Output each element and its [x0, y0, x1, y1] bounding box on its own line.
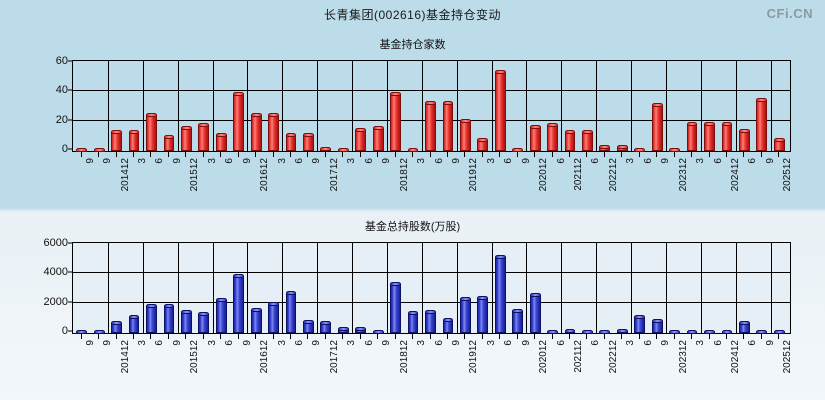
bar-body [233, 94, 244, 151]
bar-cap [338, 327, 349, 331]
x-axis-tick [447, 334, 448, 339]
bar-cap [477, 138, 488, 142]
bar-cap [286, 291, 297, 295]
x-axis-tick [621, 334, 622, 339]
x-axis-tick [150, 152, 151, 157]
bar [774, 138, 785, 151]
x-axis-label: 6 [503, 158, 514, 164]
bar [669, 148, 680, 151]
bar [599, 145, 610, 151]
x-axis-tick [569, 334, 570, 339]
x-axis-label: 202312 [678, 340, 689, 373]
bar-cap [443, 101, 454, 105]
x-axis-label: 9 [172, 340, 183, 346]
bar [687, 330, 698, 333]
bar-body [530, 295, 541, 333]
x-axis-tick [185, 334, 186, 339]
x-axis-label: 9 [660, 158, 671, 164]
x-axis-label: 201812 [399, 340, 410, 373]
x-axis-label: 3 [625, 340, 636, 346]
x-axis-label: 6 [503, 340, 514, 346]
x-axis-label: 202412 [730, 340, 741, 373]
x-axis-tick [709, 152, 710, 157]
bar-cap [268, 113, 279, 117]
bar [739, 321, 750, 333]
x-axis-tick [482, 152, 483, 157]
bar-body [425, 103, 436, 151]
x-axis-tick [98, 334, 99, 339]
bar [565, 130, 576, 151]
x-axis-tick [81, 334, 82, 339]
bar-body [303, 135, 314, 151]
x-axis-label: 3 [416, 340, 427, 346]
y-axis-label: 4000 [44, 266, 68, 278]
bar [634, 315, 645, 333]
bar-body [198, 314, 209, 333]
bar-cap [233, 92, 244, 96]
x-axis-tick [168, 152, 169, 157]
x-axis-tick [98, 152, 99, 157]
bar [547, 123, 558, 151]
site-watermark: CFi.CN [767, 6, 813, 21]
x-axis-tick [517, 152, 518, 157]
bar-cap [373, 126, 384, 130]
bar [390, 92, 401, 151]
x-axis-tick [604, 334, 605, 339]
x-axis-label: 6 [556, 340, 567, 346]
x-axis-label: 9 [765, 158, 776, 164]
bar-cap [582, 130, 593, 134]
bar-cap [181, 126, 192, 130]
bar-cap [425, 101, 436, 105]
x-axis-label: 3 [207, 340, 218, 346]
x-axis-label: 3 [137, 340, 148, 346]
bar [599, 330, 610, 333]
x-axis-label: 201412 [120, 340, 131, 373]
bar [739, 129, 750, 151]
x-axis-label: 202212 [608, 340, 619, 373]
bar-cap [739, 321, 750, 325]
x-axis-label: 9 [102, 340, 113, 346]
bar [251, 113, 262, 151]
bar-body [425, 312, 436, 333]
x-axis-label: 6 [154, 158, 165, 164]
bar-body [251, 115, 262, 151]
x-axis-label: 3 [137, 158, 148, 164]
bar [565, 329, 576, 333]
x-axis-tick [499, 334, 500, 339]
bar [373, 330, 384, 333]
x-axis-label: 6 [364, 340, 375, 346]
bar-cap [251, 308, 262, 312]
bar [704, 122, 715, 151]
bar [286, 133, 297, 151]
y-axis-label: 40 [56, 84, 68, 96]
bar-cap [617, 145, 628, 149]
bar-body [129, 317, 140, 333]
bar-cap [634, 315, 645, 319]
x-axis-label: 6 [713, 158, 724, 164]
y-axis-label: 2000 [44, 296, 68, 308]
x-axis-tick [430, 334, 431, 339]
bar [669, 330, 680, 333]
x-axis-label: 6 [434, 340, 445, 346]
bar [111, 321, 122, 333]
x-axis-tick [273, 334, 274, 339]
y-axis-tick [68, 243, 73, 244]
x-axis-label: 6 [154, 340, 165, 346]
bar-cap [425, 310, 436, 314]
x-axis-tick [203, 152, 204, 157]
bar [634, 148, 645, 151]
bar-body [739, 131, 750, 151]
x-axis-label: 202212 [608, 158, 619, 191]
bar [251, 308, 262, 333]
bar [181, 310, 192, 333]
x-axis-tick [185, 152, 186, 157]
y-axis-label: 60 [56, 55, 68, 67]
x-axis-tick [778, 152, 779, 157]
x-axis-tick [464, 334, 465, 339]
bar-body [233, 276, 244, 333]
bar-cap [233, 274, 244, 278]
chart-panel-total-shares: 基金总持股数(万股) 0200040006000 992014123692015… [0, 218, 825, 390]
bar-cap [146, 113, 157, 117]
x-axis-tick [360, 152, 361, 157]
x-axis-label: 201512 [189, 340, 200, 373]
bar-body [129, 132, 140, 151]
x-axis-tick [307, 334, 308, 339]
x-axis-tick [203, 334, 204, 339]
bar-cap [652, 319, 663, 323]
bar [530, 293, 541, 333]
bar [198, 312, 209, 333]
bar [164, 135, 175, 151]
bar-cap [198, 123, 209, 127]
bar [756, 330, 767, 333]
bar-cap [268, 302, 279, 306]
bar-body [460, 299, 471, 333]
bar-cap [111, 321, 122, 325]
bar-cap [460, 119, 471, 123]
x-axis-label: 6 [556, 158, 567, 164]
bar-body [582, 132, 593, 151]
x-axis-label: 202112 [573, 340, 584, 373]
x-axis-label: 9 [765, 340, 776, 346]
bar-cap [164, 135, 175, 139]
bar-series-fund-holders [73, 61, 790, 151]
bar-body [390, 284, 401, 333]
x-axis-label: 6 [590, 158, 601, 164]
x-axis-label: 3 [625, 158, 636, 164]
bar [373, 126, 384, 151]
bar-body [722, 124, 733, 151]
x-axis-tick [621, 152, 622, 157]
bar-cap [355, 327, 366, 331]
x-axis-label: 201612 [259, 340, 270, 373]
bar [94, 148, 105, 151]
x-axis-tick [709, 334, 710, 339]
bar-cap [739, 129, 750, 133]
bar-body [355, 130, 366, 151]
bar [704, 330, 715, 333]
bar [233, 274, 244, 333]
x-axis-label: 9 [451, 158, 462, 164]
x-axis-tick [290, 334, 291, 339]
bar [233, 92, 244, 151]
bar-cap [512, 309, 523, 313]
bar-cap [495, 70, 506, 74]
x-axis-label: 9 [381, 158, 392, 164]
x-axis-tick [586, 152, 587, 157]
x-axis-tick [569, 152, 570, 157]
bar [443, 101, 454, 151]
x-axis-tick [220, 152, 221, 157]
bar-body [547, 125, 558, 151]
x-axis-label: 6 [434, 158, 445, 164]
bar-body [390, 94, 401, 151]
x-axis-label: 3 [486, 340, 497, 346]
x-axis-label: 9 [102, 158, 113, 164]
y-axis-tick [68, 61, 73, 62]
bar [547, 330, 558, 333]
x-axis-label: 202112 [573, 158, 584, 191]
chart-title-2: 基金总持股数(万股) [0, 218, 825, 234]
x-axis-label: 9 [242, 340, 253, 346]
bar-body [181, 312, 192, 333]
bar-body [111, 132, 122, 151]
y-axis-tick [68, 301, 73, 302]
x-axis-tick [307, 152, 308, 157]
bar [756, 98, 767, 151]
y-axis-label: 6000 [44, 237, 68, 249]
x-axis-label: 6 [294, 158, 305, 164]
bar [582, 330, 593, 333]
bar [129, 315, 140, 333]
x-axis-label: 9 [172, 158, 183, 164]
bar-cap [355, 128, 366, 132]
bar [320, 321, 331, 333]
x-axis-label: 9 [311, 158, 322, 164]
x-axis-label: 9 [521, 158, 532, 164]
bar-body [530, 127, 541, 151]
bar-cap [408, 311, 419, 315]
bar-cap [477, 296, 488, 300]
bar-cap [495, 255, 506, 259]
bar-cap [774, 138, 785, 142]
x-axis-label: 3 [207, 158, 218, 164]
bar-body [164, 306, 175, 333]
x-axis-label: 9 [85, 340, 96, 346]
x-axis-tick [656, 152, 657, 157]
bar-cap [687, 122, 698, 126]
x-axis-tick [499, 152, 500, 157]
x-axis-label: 202512 [782, 340, 793, 373]
x-axis-tick [395, 334, 396, 339]
x-axis-tick [377, 334, 378, 339]
bar [164, 304, 175, 333]
bar-body [687, 124, 698, 151]
x-axis-tick [168, 334, 169, 339]
bar [495, 70, 506, 151]
plot-area-2 [72, 242, 791, 334]
x-axis-label: 3 [346, 340, 357, 346]
bar-cap [146, 304, 157, 308]
bar-cap [181, 310, 192, 314]
bar-cap [722, 122, 733, 126]
x-axis-label: 9 [451, 340, 462, 346]
bar [76, 148, 87, 151]
x-axis-label: 6 [590, 340, 601, 346]
bar-cap [390, 92, 401, 96]
bar-cap [320, 321, 331, 325]
x-axis-tick [377, 152, 378, 157]
bar [687, 122, 698, 151]
bar-body [565, 132, 576, 151]
bar-cap [216, 133, 227, 137]
x-axis-label: 3 [346, 158, 357, 164]
bar [320, 147, 331, 151]
bar [286, 291, 297, 333]
bar-body [408, 313, 419, 333]
bar-cap [303, 320, 314, 324]
bar-cap [704, 122, 715, 126]
plot-area-1 [72, 60, 791, 152]
x-axis-tick [325, 152, 326, 157]
bar-cap [251, 113, 262, 117]
x-axis-label: 201712 [329, 158, 340, 191]
bar-body [216, 135, 227, 151]
x-axis-label: 9 [660, 340, 671, 346]
bar [390, 282, 401, 333]
bar [355, 327, 366, 333]
bar-body [652, 105, 663, 151]
bar [76, 330, 87, 333]
x-axis-label: 3 [416, 158, 427, 164]
x-axis-label: 9 [311, 340, 322, 346]
bar [146, 304, 157, 333]
x-axis-tick [325, 334, 326, 339]
chart-panel-fund-holders: 基金持仓家数 0204060 9920141236920151236920161… [0, 36, 825, 206]
bar-body [146, 306, 157, 333]
bar-body [268, 115, 279, 151]
x-axis-label: 201912 [468, 340, 479, 373]
x-axis-tick [639, 334, 640, 339]
bar [652, 319, 663, 333]
x-axis-tick [656, 334, 657, 339]
bar-body [181, 128, 192, 151]
bar [216, 133, 227, 151]
bar-cap [547, 123, 558, 127]
bar-body [286, 293, 297, 333]
x-axis-tick [238, 334, 239, 339]
x-axis-tick [81, 152, 82, 157]
x-axis-label: 6 [643, 340, 654, 346]
x-axis-tick [534, 152, 535, 157]
x-axis-tick [604, 152, 605, 157]
bar-body [495, 257, 506, 333]
x-axis-label: 3 [486, 158, 497, 164]
bar-cap [303, 133, 314, 137]
x-axis-tick [534, 334, 535, 339]
x-axis-tick [761, 334, 762, 339]
y-axis-tick [68, 149, 73, 150]
x-axis-tick [691, 152, 692, 157]
bar [268, 302, 279, 333]
x-axis-label: 6 [713, 340, 724, 346]
y-axis-tick [68, 331, 73, 332]
bar-body [495, 72, 506, 151]
y-axis-2: 0200040006000 [0, 242, 68, 334]
bar-body [216, 300, 227, 333]
bar [129, 130, 140, 151]
bar [216, 298, 227, 333]
y-axis-label: 20 [56, 114, 68, 126]
bar [477, 296, 488, 333]
bar-cap [599, 145, 610, 149]
chart-title-1: 基金持仓家数 [0, 36, 825, 52]
x-axis-label: 6 [224, 340, 235, 346]
bar-series-total-shares [73, 243, 790, 333]
bar-cap [565, 329, 576, 333]
bar [146, 113, 157, 151]
bar-cap [460, 297, 471, 301]
bar-body [251, 310, 262, 333]
x-axis-label: 202412 [730, 158, 741, 191]
bar [774, 330, 785, 333]
bar-cap [216, 298, 227, 302]
bar [268, 113, 279, 151]
bar [198, 123, 209, 151]
y-axis-1: 0204060 [0, 60, 68, 152]
x-axis-label: 201612 [259, 158, 270, 191]
x-axis-tick [552, 152, 553, 157]
bar [94, 330, 105, 333]
x-axis-label: 9 [85, 158, 96, 164]
bar-body [164, 137, 175, 151]
bar [460, 119, 471, 151]
y-axis-tick [68, 119, 73, 120]
bar [582, 130, 593, 151]
x-axis-tick [761, 152, 762, 157]
bar [722, 122, 733, 151]
bar-body [477, 298, 488, 333]
x-axis-tick [778, 334, 779, 339]
bar-body [512, 311, 523, 333]
x-axis-tick [133, 334, 134, 339]
x-axis-tick [412, 152, 413, 157]
bar-body [443, 103, 454, 151]
x-axis-tick [220, 334, 221, 339]
bar-body [286, 135, 297, 151]
x-axis-tick [691, 334, 692, 339]
bar [408, 311, 419, 333]
bar-body [373, 128, 384, 151]
x-axis-label: 202012 [538, 158, 549, 191]
bar-cap [198, 312, 209, 316]
bar [443, 318, 454, 333]
x-axis-tick [430, 152, 431, 157]
x-axis-tick [726, 152, 727, 157]
x-axis-tick [552, 334, 553, 339]
bar-cap [530, 125, 541, 129]
page-title: 长青集团(002616)基金持仓变动 [0, 6, 825, 23]
x-axis-label: 6 [643, 158, 654, 164]
x-axis-label: 9 [521, 340, 532, 346]
chart-page: 长青集团(002616)基金持仓变动 CFi.CN 基金持仓家数 0204060… [0, 0, 825, 400]
bar-body [756, 100, 767, 151]
x-axis-tick [238, 152, 239, 157]
